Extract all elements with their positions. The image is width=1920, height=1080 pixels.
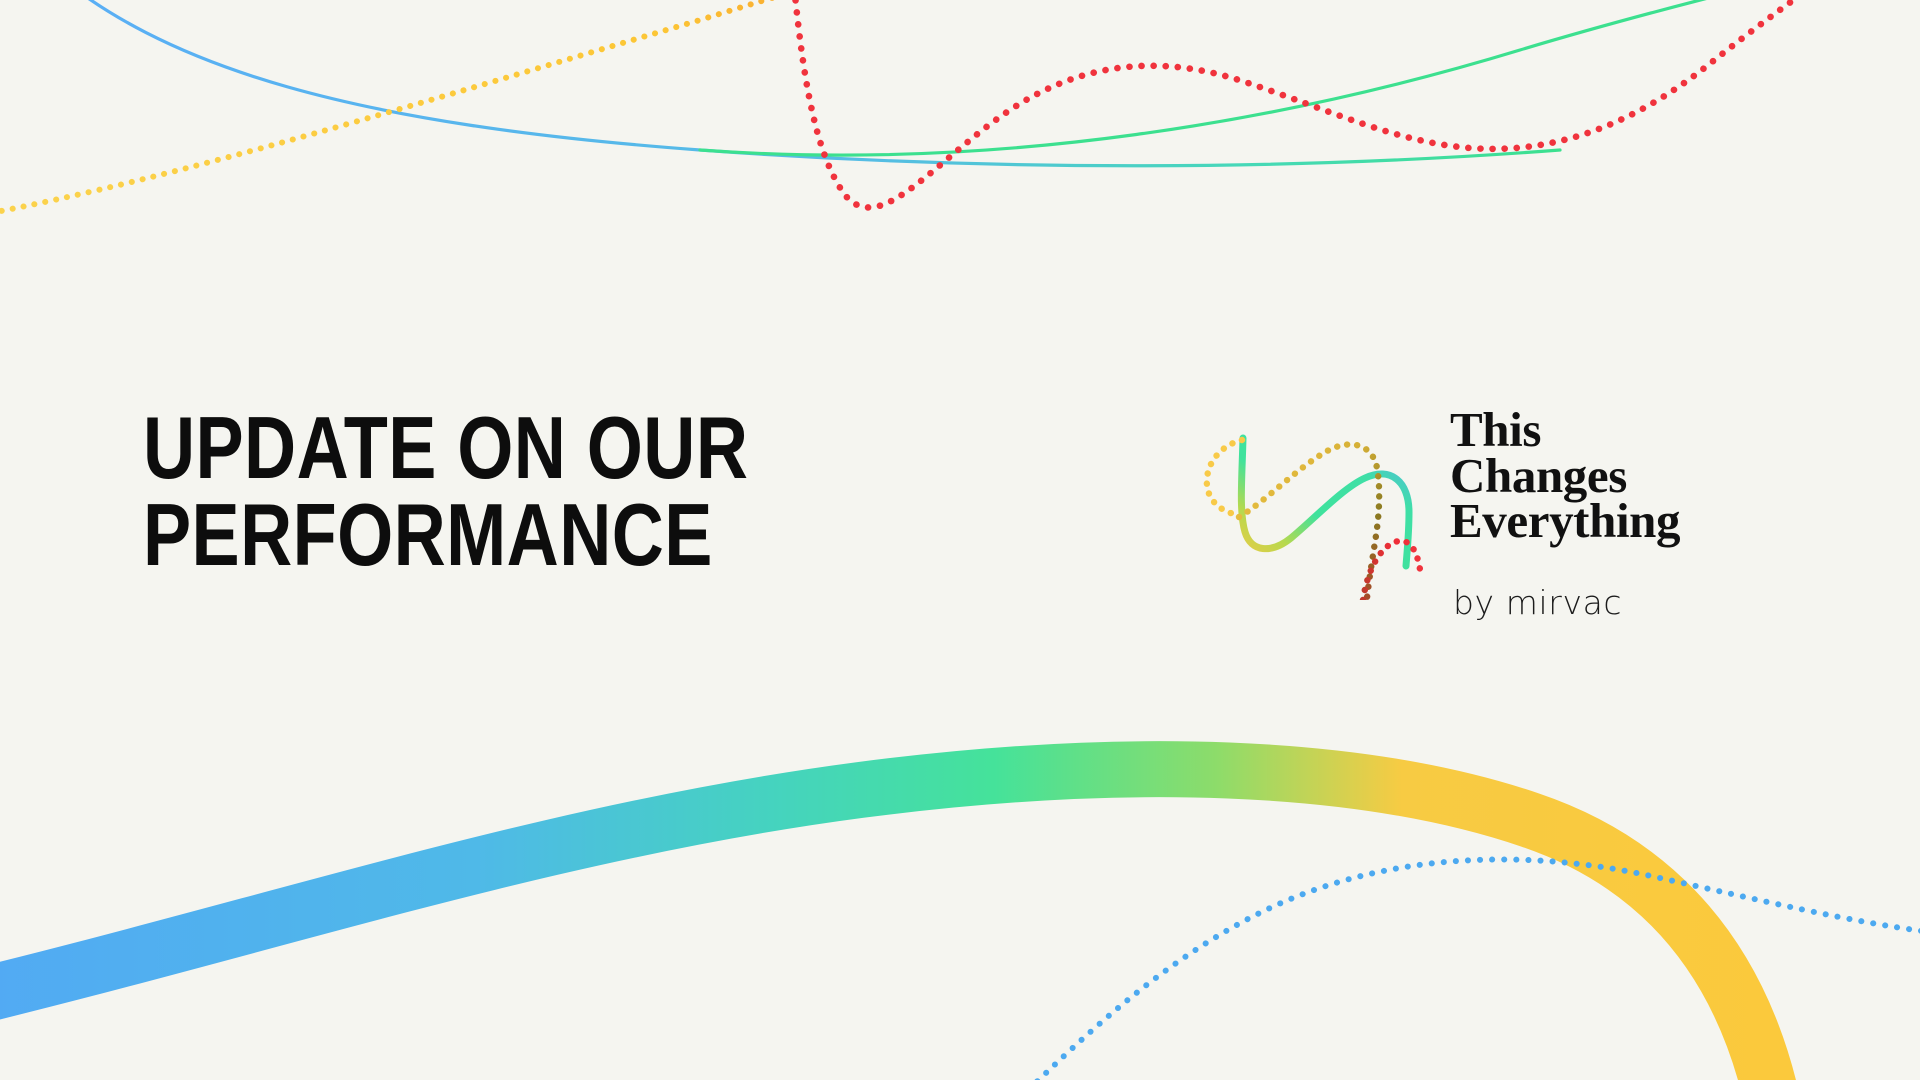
page-title: UPDATE ON OUR PERFORMANCE [143, 404, 923, 578]
brand-wordmark: This Changes Everything [1450, 407, 1810, 544]
brand-wordmark-line-2: Changes [1450, 453, 1810, 499]
top-green-solid-curve [700, 0, 1880, 155]
swirl-gradient-stroke [1241, 438, 1409, 566]
top-yellow-dotted-diagonal [0, 0, 930, 215]
brand-wordmark-line-3: Everything [1450, 498, 1810, 544]
slide-canvas: UPDATE ON OUR PERFORMANCE This Changes E… [0, 0, 1920, 1080]
bottom-gradient-band [0, 769, 1772, 1080]
bottom-blue-dotted-curve [1020, 859, 1920, 1080]
this-changes-everything-swirl-icon [1195, 420, 1445, 600]
top-red-dotted-wave [790, 0, 1905, 207]
brand-logo-lockup: This Changes Everything by mirvac [1195, 420, 1815, 610]
red-dotted-hump [1363, 541, 1421, 600]
yellow-dotted-loop [1207, 440, 1242, 515]
page-title-line-2: PERFORMANCE [143, 491, 783, 578]
brand-wordmark-line-1: This [1450, 407, 1810, 453]
brand-byline: by mirvac [1453, 583, 1622, 622]
page-title-line-1: UPDATE ON OUR [143, 404, 783, 491]
top-blue-solid-curve [40, 0, 1560, 166]
